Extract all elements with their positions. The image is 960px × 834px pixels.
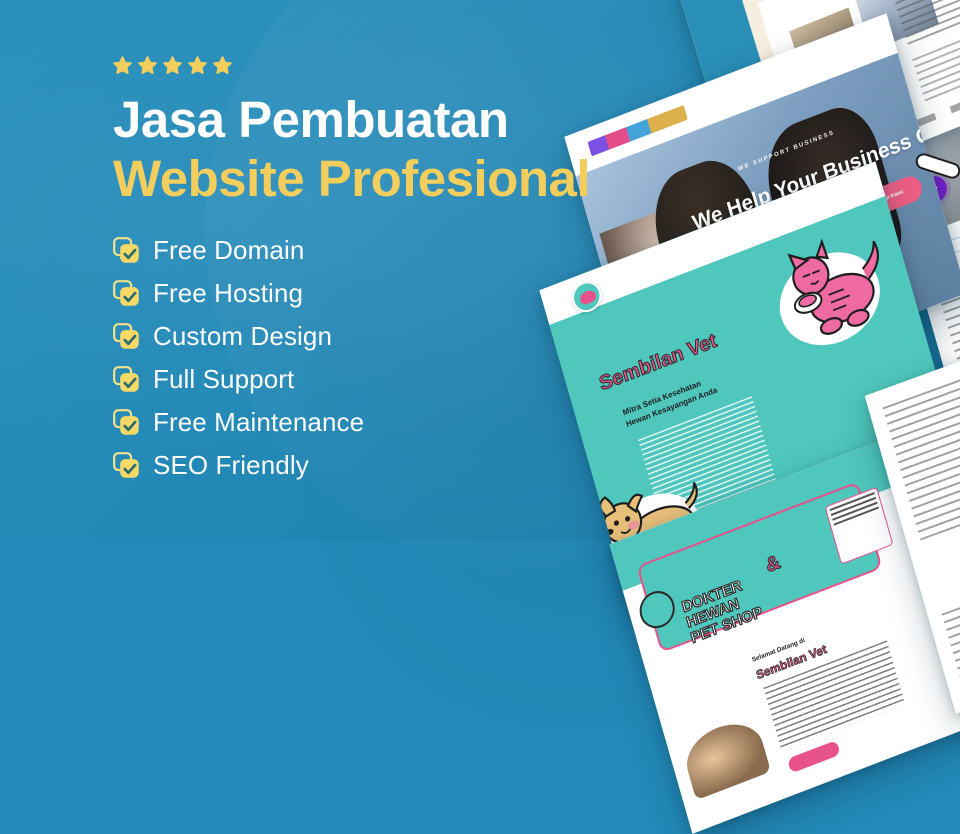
list-item: SEO Friendly <box>113 450 633 481</box>
feature-label: Full Support <box>153 364 294 395</box>
page-title-line-1: Jasa Pembuatan <box>113 93 633 148</box>
checkbox-icon <box>113 237 140 264</box>
checkbox-icon <box>113 366 140 393</box>
promo-content: Jasa Pembuatan Website Profesional Free … <box>113 56 633 481</box>
checkbox-icon <box>113 280 140 307</box>
checkbox-icon <box>113 323 140 350</box>
feature-label: Custom Design <box>153 321 332 352</box>
list-item: Custom Design <box>113 321 633 352</box>
list-item: Free Maintenance <box>113 407 633 438</box>
list-item: Free Domain <box>113 235 633 266</box>
checkbox-icon <box>113 452 140 479</box>
star-icon <box>113 56 132 75</box>
feature-label: Free Hosting <box>153 278 303 309</box>
feature-label: Free Maintenance <box>153 407 364 438</box>
feature-list: Free Domain Free Hosting Custom Design <box>113 235 633 481</box>
star-icon <box>213 56 232 75</box>
list-item: Free Hosting <box>113 278 633 309</box>
doc2-text-lines-lower <box>942 563 960 690</box>
star-icon <box>138 56 157 75</box>
star-icon <box>188 56 207 75</box>
list-item: Full Support <box>113 364 633 395</box>
vet2-pets-photo <box>680 714 771 801</box>
feature-label: Free Domain <box>153 235 304 266</box>
checkbox-icon <box>113 409 140 436</box>
star-icon <box>163 56 182 75</box>
feature-label: SEO Friendly <box>153 450 309 481</box>
star-rating <box>113 56 633 75</box>
page-title-line-2: Website Profesional <box>113 150 633 207</box>
